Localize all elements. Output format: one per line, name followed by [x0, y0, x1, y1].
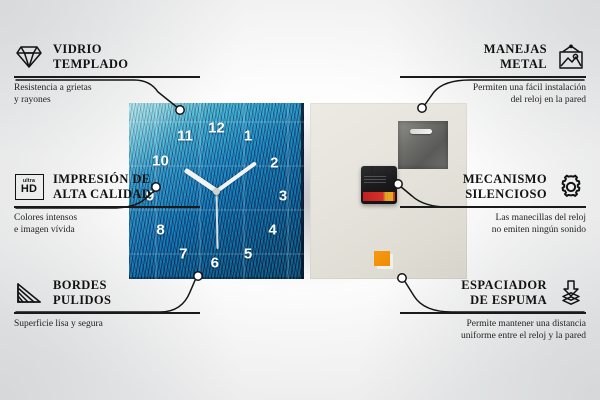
feature-mechanism-title: MECANISMO SILENCIOSO	[463, 172, 547, 202]
feature-glass-head: VIDRIO TEMPLADO	[14, 42, 200, 72]
feature-glass-divider	[14, 76, 200, 78]
mechanism-hanging-loop	[371, 166, 391, 173]
ultra-hd-main-text: HD	[21, 184, 37, 195]
clock-numeral-12: 12	[208, 120, 225, 135]
feature-edges: BORDES PULIDOS Superficie lisa y segura	[14, 278, 200, 330]
hanger-slot	[410, 129, 432, 134]
feature-glass: VIDRIO TEMPLADO Resistencia a grietas y …	[14, 42, 200, 107]
feature-glass-title: VIDRIO TEMPLADO	[53, 42, 128, 72]
clock-numeral-10: 10	[152, 154, 169, 169]
feature-mechanism-desc: Las manecillas del reloj no emiten ningú…	[400, 212, 586, 237]
clock-center-cap	[213, 188, 220, 195]
feature-print-title: IMPRESIÓN DE ALTA CALIDAD	[53, 172, 151, 202]
metal-hanger-plate	[398, 121, 448, 169]
feature-foam-title: ESPACIADOR DE ESPUMA	[461, 278, 547, 308]
feature-mechanism: MECANISMO SILENCIOSO Las manecillas del …	[400, 172, 586, 237]
clock-numeral-6: 6	[211, 256, 219, 271]
clock-numeral-5: 5	[244, 247, 252, 262]
feature-glass-desc: Resistencia a grietas y rayones	[14, 82, 200, 107]
battery-terminal	[388, 192, 393, 201]
feature-edges-head: BORDES PULIDOS	[14, 278, 200, 308]
feature-hanger-head: MANEJAS METAL	[400, 42, 586, 72]
feature-mechanism-head: MECANISMO SILENCIOSO	[400, 172, 586, 202]
foam-spacer-icon	[556, 278, 586, 308]
clock-mechanism-box	[361, 166, 397, 204]
feature-print-head: ultra HD IMPRESIÓN DE ALTA CALIDAD	[14, 172, 200, 202]
foam-spacer-pad	[374, 251, 390, 266]
feature-edges-desc: Superficie lisa y segura	[14, 318, 200, 331]
gear-icon	[556, 172, 586, 202]
feature-hanger-title: MANEJAS METAL	[484, 42, 547, 72]
feature-foam-head: ESPACIADOR DE ESPUMA	[400, 278, 586, 308]
framed-picture-icon	[556, 42, 586, 72]
feature-print-desc: Colores intensos e imagen vívida	[14, 212, 200, 237]
clock-numeral-7: 7	[179, 247, 187, 262]
clock-numeral-2: 2	[270, 155, 278, 170]
clock-numeral-1: 1	[244, 129, 252, 144]
feature-edges-divider	[14, 312, 200, 314]
feature-mechanism-divider	[400, 206, 586, 208]
clock-numeral-11: 11	[177, 129, 193, 144]
feature-foam-divider	[400, 312, 586, 314]
feature-edges-title: BORDES PULIDOS	[53, 278, 111, 308]
diamond-icon	[14, 42, 44, 72]
product-feature-infographic: 12 1 2 3 4 5 6 7 8 9 10 11	[0, 0, 600, 400]
mechanism-label	[364, 176, 386, 185]
feature-print-divider	[14, 206, 200, 208]
feature-foam-desc: Permite mantener una distancia uniforme …	[400, 318, 586, 343]
feature-print: ultra HD IMPRESIÓN DE ALTA CALIDAD Color…	[14, 172, 200, 237]
clock-numeral-3: 3	[279, 189, 287, 204]
feature-hanger: MANEJAS METAL Permiten una fácil instala…	[400, 42, 586, 107]
ultra-hd-icon: ultra HD	[14, 172, 44, 202]
clock-numeral-4: 4	[268, 222, 276, 237]
feature-foam: ESPACIADOR DE ESPUMA Permite mantener un…	[400, 278, 586, 343]
polished-edge-icon	[14, 278, 44, 308]
feature-hanger-divider	[400, 76, 586, 78]
feature-hanger-desc: Permiten una fácil instalación del reloj…	[400, 82, 586, 107]
